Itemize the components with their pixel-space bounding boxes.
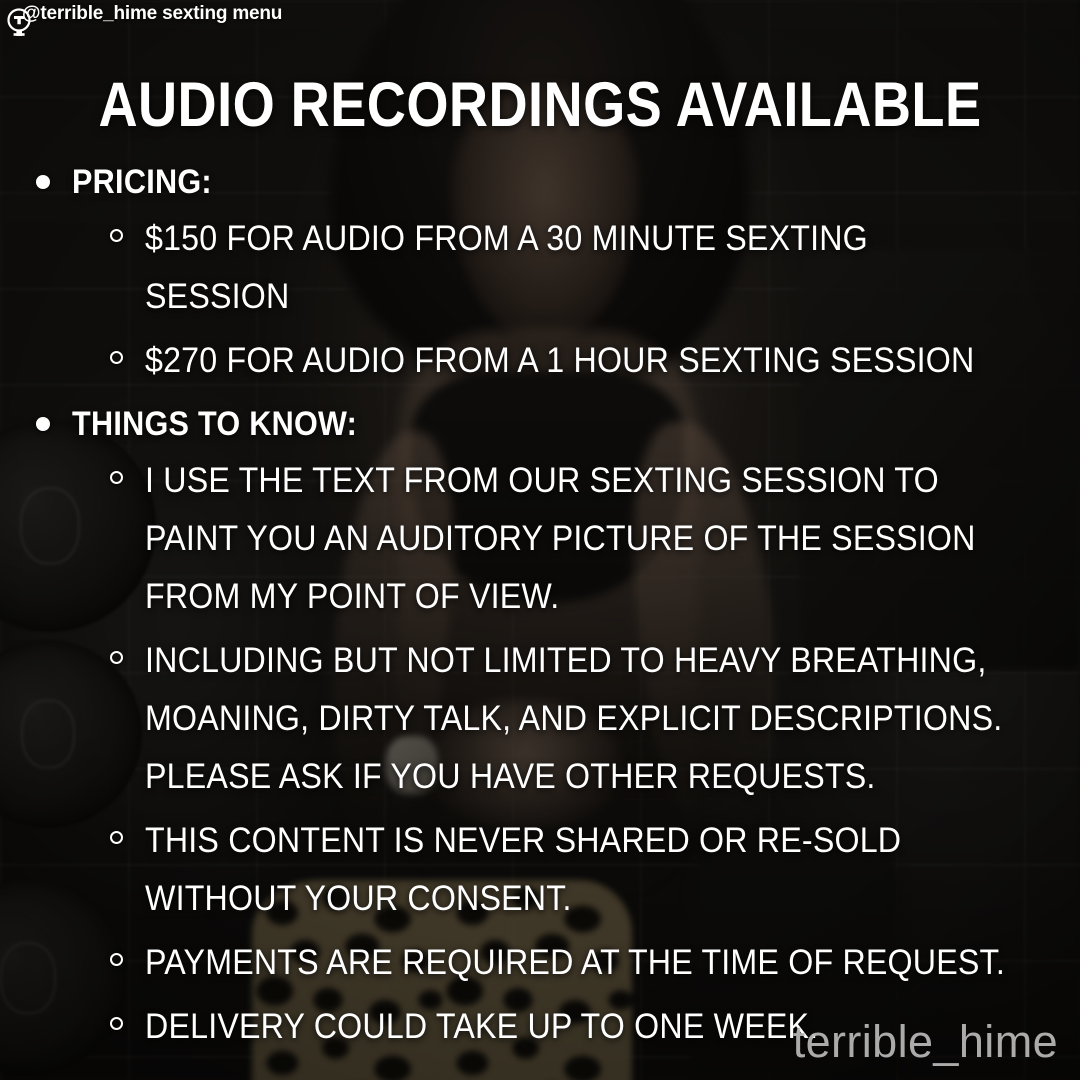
list-item: PAYMENTS ARE REQUIRED AT THE TIME OF REQ… bbox=[0, 934, 1080, 992]
bullet-hollow-icon bbox=[110, 351, 123, 364]
bullet-hollow-icon bbox=[110, 651, 123, 664]
menu-content-list: PRICING: $150 FOR AUDIO FROM A 30 MINUTE… bbox=[0, 158, 1080, 1062]
footer-handle-watermark: terrible_hime bbox=[793, 1016, 1058, 1068]
account-handle-header: @terrible_hime sexting menu bbox=[22, 3, 282, 25]
bullet-hollow-icon bbox=[110, 229, 123, 242]
bullet-filled-icon bbox=[36, 175, 50, 189]
page-title: AUDIO RECORDINGS AVAILABLE bbox=[76, 74, 1005, 137]
list-item: I USE THE TEXT FROM OUR SEXTING SESSION … bbox=[0, 452, 1080, 626]
list-item-label: THIS CONTENT IS NEVER SHARED OR RE-SOLD … bbox=[145, 812, 1005, 928]
list-item: INCLUDING BUT NOT LIMITED TO HEAVY BREAT… bbox=[0, 632, 1080, 806]
list-item-label: I USE THE TEXT FROM OUR SEXTING SESSION … bbox=[145, 452, 1005, 626]
bullet-hollow-icon bbox=[110, 471, 123, 484]
section-heading-label: THINGS TO KNOW: bbox=[72, 400, 357, 448]
list-item: THIS CONTENT IS NEVER SHARED OR RE-SOLD … bbox=[0, 812, 1080, 928]
bullet-hollow-icon bbox=[110, 831, 123, 844]
list-item-label: $150 FOR AUDIO FROM A 30 MINUTE SEXTING … bbox=[145, 210, 1005, 326]
bullet-filled-icon bbox=[36, 417, 50, 431]
bullet-hollow-icon bbox=[110, 953, 123, 966]
section-heading-things-to-know: THINGS TO KNOW: bbox=[0, 400, 1080, 448]
list-item-label: $270 FOR AUDIO FROM A 1 HOUR SEXTING SES… bbox=[145, 332, 974, 390]
bullet-hollow-icon bbox=[110, 1017, 123, 1030]
site-url-watermark: ppeningbook.com bbox=[0, 28, 32, 224]
site-logo-icon bbox=[4, 8, 34, 38]
list-item-label: DELIVERY COULD TAKE UP TO ONE WEEK. bbox=[145, 998, 818, 1056]
list-item-label: PAYMENTS ARE REQUIRED AT THE TIME OF REQ… bbox=[145, 934, 1005, 992]
graphic-canvas: ppeningbook.com @terrible_hime sexting m… bbox=[0, 0, 1080, 1080]
section-heading-label: PRICING: bbox=[72, 158, 212, 206]
account-handle-label: @terrible_hime sexting menu bbox=[22, 3, 282, 25]
list-item: $270 FOR AUDIO FROM A 1 HOUR SEXTING SES… bbox=[0, 332, 1080, 390]
list-item: $150 FOR AUDIO FROM A 30 MINUTE SEXTING … bbox=[0, 210, 1080, 326]
text-overlay: ppeningbook.com @terrible_hime sexting m… bbox=[0, 0, 1080, 1080]
list-item-label: INCLUDING BUT NOT LIMITED TO HEAVY BREAT… bbox=[145, 632, 1005, 806]
section-heading-pricing: PRICING: bbox=[0, 158, 1080, 206]
